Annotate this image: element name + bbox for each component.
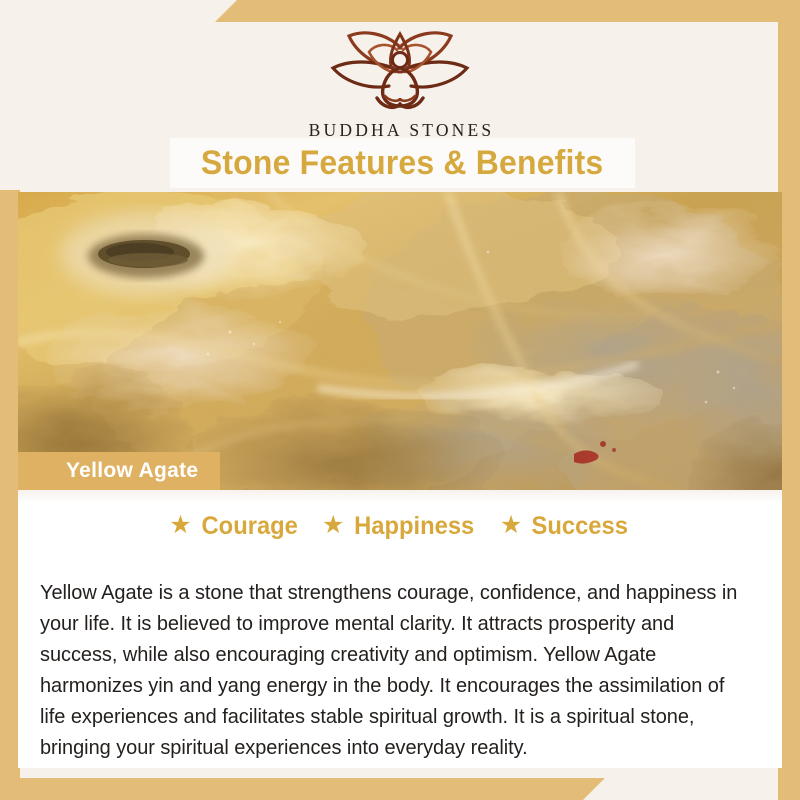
keyword-label: Happiness [355,512,475,541]
star-icon: ★ [322,513,344,538]
stone-photo [18,192,782,490]
keyword-item-success: ★ Success [500,512,631,541]
keyword-item-courage: ★ Courage [169,512,300,541]
card-top-fade [18,490,782,504]
description-text: Yellow Agate is a stone that strengthens… [40,578,753,764]
title-banner: Stone Features & Benefits [170,138,635,188]
keyword-label: Success [532,512,628,541]
keyword-list: ★ Courage ★ Happiness ★ Success [18,512,782,541]
content-card: ★ Courage ★ Happiness ★ Success Yellow A… [18,490,782,768]
brand-logo: BUDDHA STONES [0,24,800,141]
keyword-item-happiness: ★ Happiness [322,512,478,541]
stone-name-tag: Yellow Agate [18,452,220,490]
agate-texture-illustration [18,192,782,490]
lotus-meditation-figure-icon [305,24,495,116]
gold-frame-bottom [0,778,605,800]
gold-frame-left [0,190,20,800]
stone-name: Yellow Agate [66,459,198,483]
page-title: Stone Features & Benefits [201,144,604,183]
gold-frame-top [215,0,800,22]
poster-root: BUDDHA STONES Stone Features & Benefits [0,0,800,800]
star-icon: ★ [169,513,191,538]
keyword-label: Courage [201,512,297,541]
star-icon: ★ [500,513,522,538]
